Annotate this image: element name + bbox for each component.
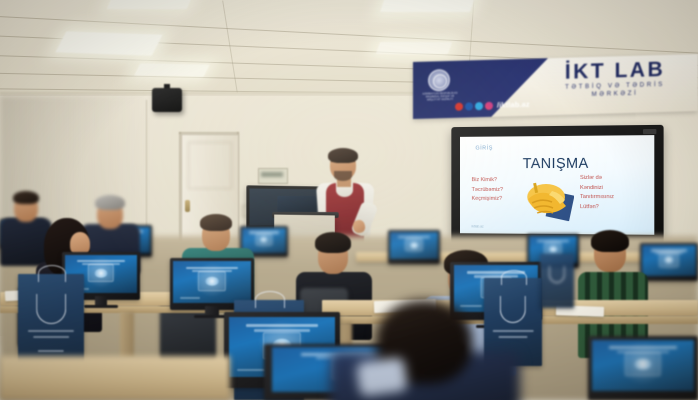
door-panel (188, 142, 232, 189)
attendee-hair (200, 214, 232, 231)
slide-right-line: Kəndinizi (580, 183, 643, 193)
door-handle[interactable] (185, 200, 190, 212)
gift-bag-logo (36, 294, 66, 324)
gift-bag-text-line (33, 336, 69, 338)
classroom-photo: AZƏRBAYCAN RESPUBLİKASI RƏQƏMSAL İNKİŞAF… (0, 0, 698, 400)
wall-plaque-label (261, 172, 283, 177)
branded-gift-bag (540, 254, 574, 308)
slide-footer: iktlab.az (472, 224, 484, 228)
slide-title: TANIŞMA (460, 155, 654, 172)
presenter-hair (328, 148, 358, 163)
handshake-illustration (522, 177, 574, 221)
slide-left-line: Təcrübəmiz? (472, 186, 529, 195)
presentation-slide: GİRİŞ TANIŞMA Biz Kimik? Təcrübəmiz? Keç… (460, 135, 654, 235)
gift-bag-handle (501, 270, 527, 285)
gift-bag-handle (38, 265, 66, 282)
monitor (640, 243, 698, 281)
attendee-hair (315, 232, 351, 253)
slide-left-line: Biz Kimik? (472, 176, 529, 185)
social-links-row[interactable]: /iktlab.az (455, 100, 530, 111)
ceiling-light-panel (380, 0, 476, 12)
youtube-icon[interactable] (455, 102, 463, 110)
slide-left-questions: Biz Kimik? Təcrübəmiz? Keçmişimiz? (472, 176, 529, 204)
brand-name: İKT LAB (540, 59, 690, 83)
display-power-indicator (643, 129, 656, 134)
social-handle-text: /iktlab.az (497, 100, 530, 110)
attendee-plaid-green-shirt (578, 230, 648, 352)
attendee-hair (13, 191, 39, 204)
instagram-icon[interactable] (485, 101, 493, 109)
wall-speaker (152, 88, 182, 112)
gift-bag-logo (549, 266, 565, 283)
ceiling-light-panel (134, 63, 209, 76)
facebook-icon[interactable] (465, 102, 473, 110)
attendee-foreground-navy (330, 300, 520, 400)
gift-bag-handle (255, 291, 285, 308)
twitter-icon[interactable] (475, 102, 483, 110)
attendee-hair (591, 230, 629, 252)
desk-leg (120, 312, 134, 358)
ceiling-light-panel (55, 31, 162, 55)
slide-right-questions: Sizlər də Kəndinizi Tanıtırmısınız Lütfə… (580, 174, 643, 213)
slide-right-line: Sizlər də (580, 174, 643, 184)
slide-right-line: Tanıtırmısınız (580, 193, 643, 203)
banner-brand-block: İKT LAB TƏTBİQ VƏ TƏDRİS MƏRKƏZİ (540, 59, 690, 100)
gift-bag-text-line (38, 350, 64, 352)
desk-edge-foreground (0, 356, 230, 400)
attendee-hair (95, 195, 125, 210)
presenter-beard (334, 171, 352, 181)
monitor (588, 336, 698, 400)
gift-bag-text-line (28, 330, 74, 332)
slide-right-line: Lütfən? (580, 203, 643, 213)
slide-left-line: Keçmişimiz? (472, 195, 529, 205)
slide-eyebrow: GİRİŞ (475, 145, 492, 151)
ceiling-light-panel (107, 0, 194, 9)
ceiling-light-panel (376, 42, 452, 54)
ikt-lab-banner: AZƏRBAYCAN RESPUBLİKASI RƏQƏMSAL İNKİŞAF… (413, 54, 698, 119)
